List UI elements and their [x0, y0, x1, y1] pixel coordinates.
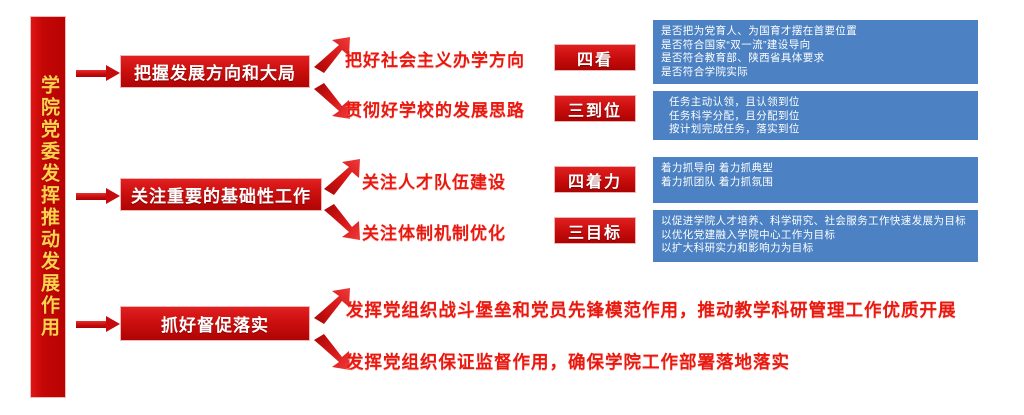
arrow-head — [106, 188, 120, 204]
badge-1-1-text: 四看 — [577, 46, 613, 70]
item-label-1-2[interactable]: 贯彻好学校的发展思路 — [345, 96, 525, 121]
detail-line: 着力抓团队 着力抓氛围 — [653, 176, 978, 190]
detail-line: 任务科学分配，且分配到位 — [653, 110, 978, 124]
badge-1-2[interactable]: 三到位 — [554, 95, 636, 122]
item-label-2-1[interactable]: 关注人才队伍建设 — [362, 168, 506, 193]
detail-line: 是否符合国家“双一流”建设导向 — [653, 39, 978, 53]
detail-line: 以扩大科研实力和影响力为目标 — [653, 242, 978, 256]
group-3-title-box[interactable]: 抓好督促落实 — [120, 306, 310, 341]
badge-1-2-text: 三到位 — [568, 97, 622, 121]
arrow-banner-to-group-3 — [76, 316, 120, 332]
arrow-shaft — [76, 70, 107, 77]
detail-panel-1-2: 任务主动认领，且认领到位 任务科学分配，且分配到位 按计划完成任务，落实到位 — [653, 91, 978, 140]
badge-2-2[interactable]: 三目标 — [554, 217, 636, 244]
badge-2-2-text: 三目标 — [568, 219, 622, 243]
arrow-shaft — [76, 193, 107, 200]
detail-panel-2-1: 着力抓导向 着力抓典型 着力抓团队 着力抓氛围 — [653, 157, 978, 203]
detail-panel-1-1: 是否把为党育人、为国育才摆在首要位置 是否符合国家“双一流”建设导向 是否符合教… — [653, 20, 978, 84]
detail-line: 是否符合学院实际 — [653, 66, 978, 80]
group-1-title-text: 把握发展方向和大局 — [134, 59, 296, 84]
group-1-title-box[interactable]: 把握发展方向和大局 — [120, 55, 310, 88]
arrow-banner-to-group-1 — [76, 65, 120, 81]
detail-line: 着力抓导向 着力抓典型 — [653, 162, 978, 176]
main-title-banner: 学院党委发挥推动发展作用 — [30, 16, 66, 398]
group-3-title-text: 抓好督促落实 — [161, 311, 269, 336]
item-label-2-2[interactable]: 关注体制机制优化 — [362, 219, 506, 244]
item-label-1-1[interactable]: 把好社会主义办学方向 — [345, 46, 525, 71]
detail-panel-2-2: 以促进学院人才培养、科学研究、社会服务工作快速发展为目标 以优化党建融入学院中心… — [653, 210, 978, 262]
group-2-title-box[interactable]: 关注重要的基础性工作 — [120, 178, 322, 211]
item-label-3-1[interactable]: 发挥党组织战斗堡垒和党员先锋模范作用，推动教学科研管理工作优质开展 — [346, 297, 957, 322]
arrow-head — [106, 65, 120, 81]
main-title-text: 学院党委发挥推动发展作用 — [38, 75, 58, 339]
badge-2-1[interactable]: 四着力 — [554, 166, 636, 193]
detail-line: 以促进学院人才培养、科学研究、社会服务工作快速发展为目标 — [653, 215, 978, 229]
diagram-canvas: 学院党委发挥推动发展作用 把握发展方向和大局 — [0, 0, 1024, 415]
detail-line: 是否把为党育人、为国育才摆在首要位置 — [653, 25, 978, 39]
arrow-branch-up-group-2 — [322, 156, 362, 196]
arrow-head — [106, 316, 120, 332]
arrow-shaft — [76, 321, 107, 328]
detail-line: 以优化党建融入学院中心工作为目标 — [653, 229, 978, 243]
detail-line: 任务主动认领，且认领到位 — [653, 96, 978, 110]
item-label-3-2[interactable]: 发挥党组织保证监督作用，确保学院工作部署落地落实 — [346, 349, 790, 374]
badge-1-1[interactable]: 四看 — [554, 44, 636, 71]
arrow-banner-to-group-2 — [76, 188, 120, 204]
arrow-branch-down-group-2 — [322, 203, 362, 243]
detail-line: 按计划完成任务，落实到位 — [653, 123, 978, 137]
badge-2-1-text: 四着力 — [568, 168, 622, 192]
group-2-title-text: 关注重要的基础性工作 — [131, 182, 311, 207]
detail-line: 是否符合教育部、陕西省具体要求 — [653, 52, 978, 66]
